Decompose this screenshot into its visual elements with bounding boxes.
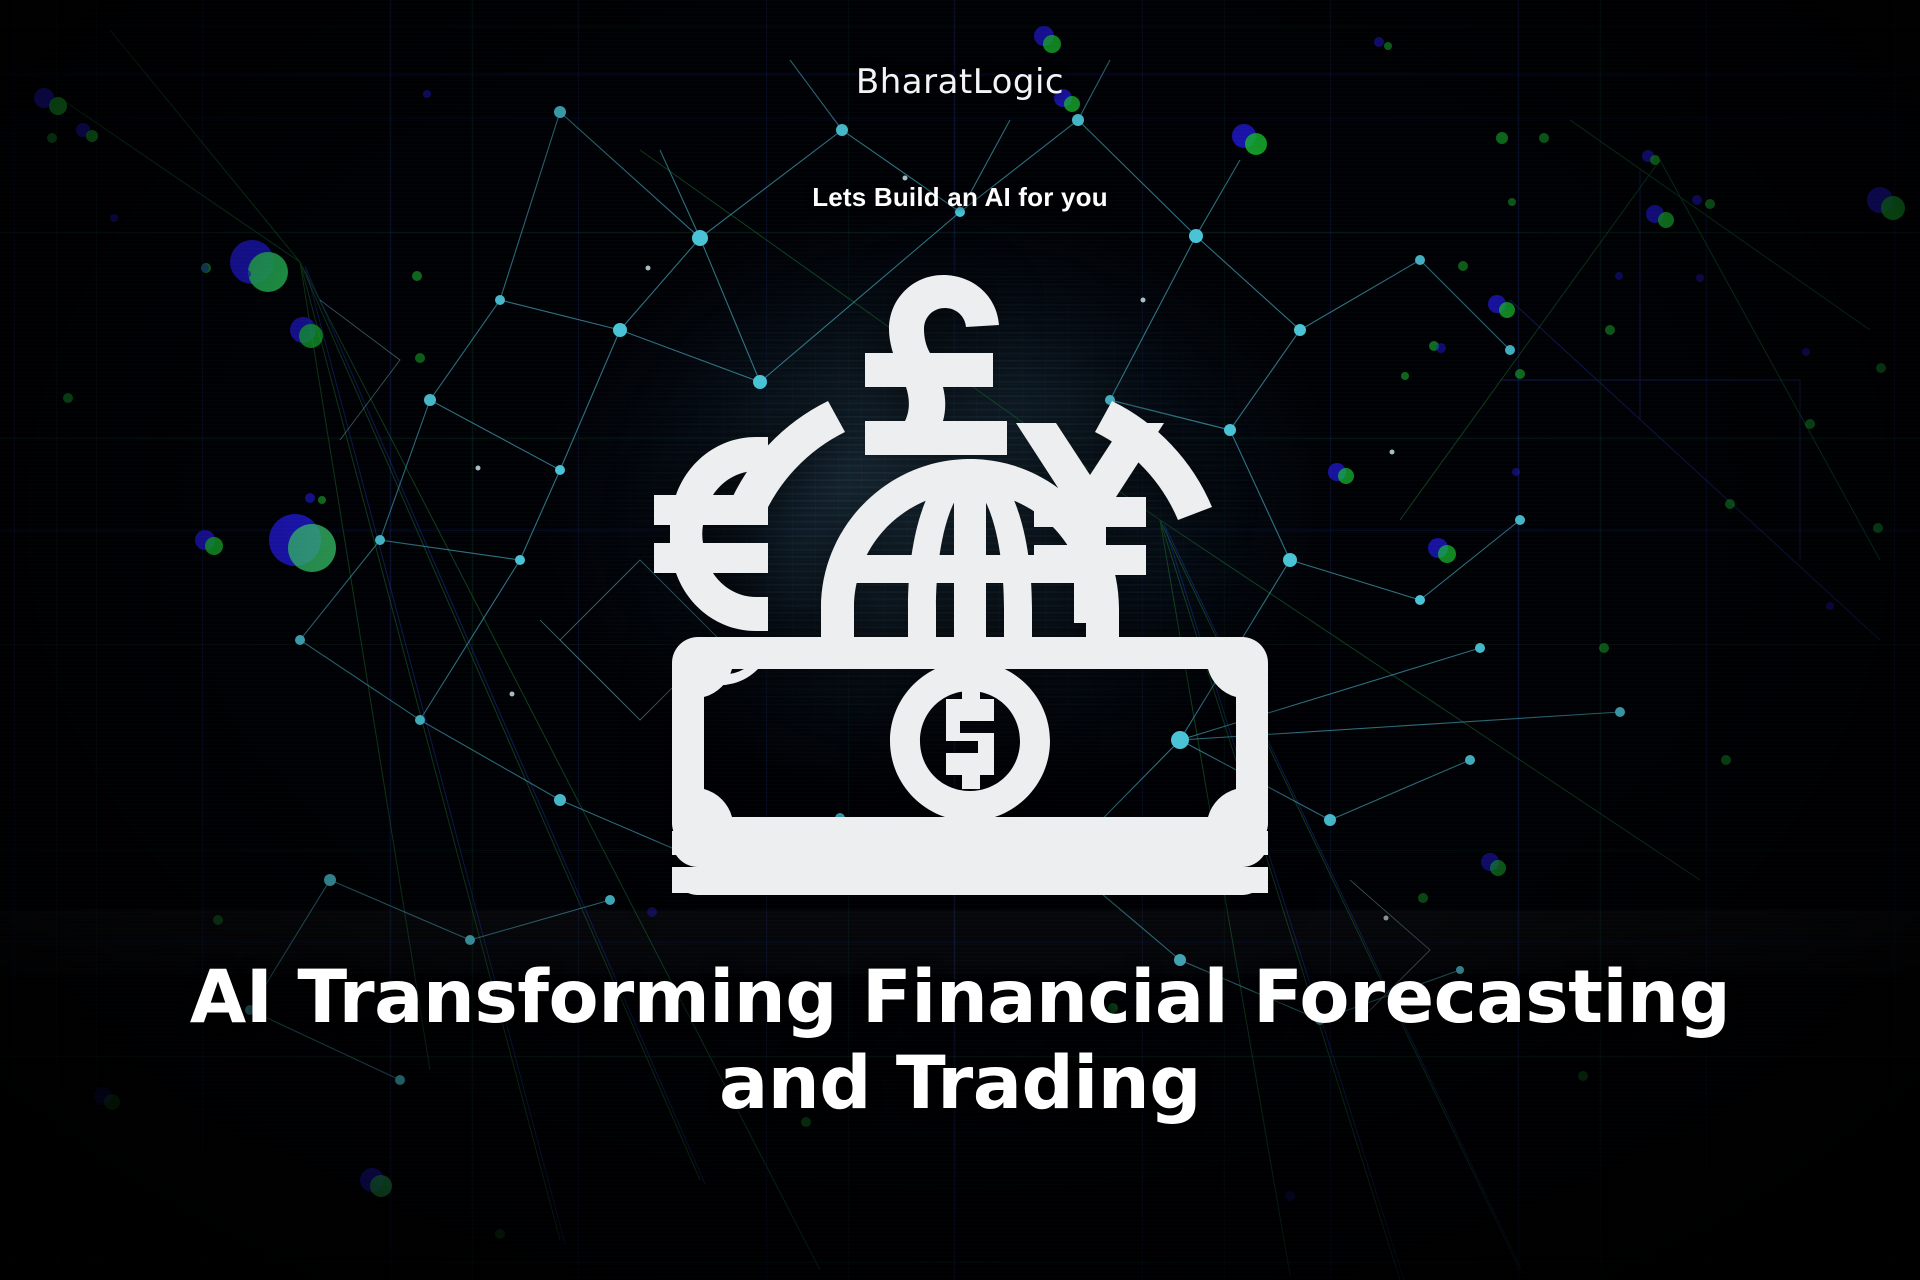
poster-canvas: BharatLogic Lets Build an AI for you bbox=[0, 0, 1920, 1280]
global-currency-banknote-icon bbox=[640, 255, 1300, 895]
brand-tagline: Lets Build an AI for you bbox=[0, 182, 1920, 213]
dollar-symbol-coin bbox=[890, 661, 1050, 821]
pound-sterling-symbol bbox=[865, 275, 1007, 455]
page-title-line-1: AI Transforming Financial Forecasting bbox=[190, 955, 1730, 1040]
euro-symbol bbox=[654, 437, 768, 631]
page-title-line-2: and Trading bbox=[120, 1041, 1800, 1127]
page-title: AI Transforming Financial Forecasting an… bbox=[120, 955, 1800, 1127]
brand-logo: BharatLogic bbox=[0, 62, 1920, 102]
